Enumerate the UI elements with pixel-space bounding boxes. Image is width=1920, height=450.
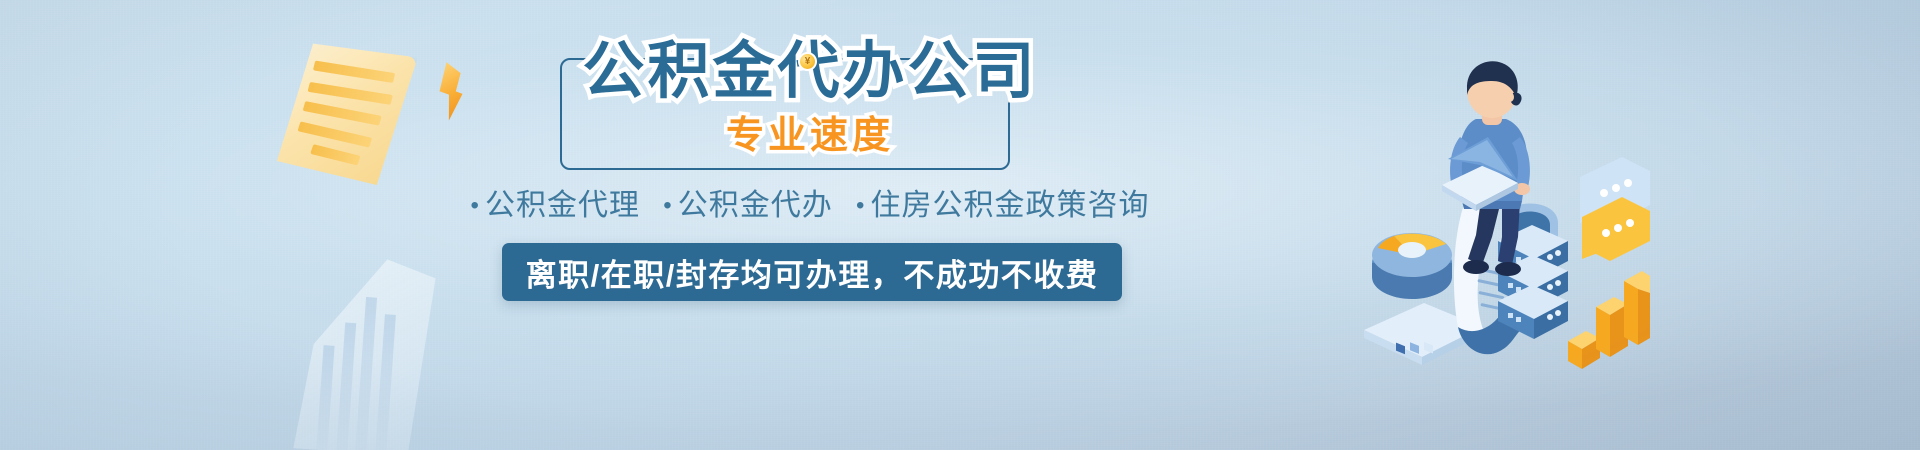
list-item-label: 公积金代办	[678, 189, 833, 222]
cta-button[interactable]: 离职/在职/封存均可办理，不成功不收费	[502, 243, 1122, 301]
bar-chart-icon	[1568, 271, 1650, 369]
cta-button-label: 离职/在职/封存均可办理，不成功不收费	[526, 250, 1099, 295]
list-item: •公积金代理	[471, 180, 640, 224]
title-container: 公积金代办公司 ¥	[430, 36, 1190, 107]
promo-banner: 公积金代办公司 ¥ 专业速度 •公积金代理 •公积金代办 •住房公积金政策咨询 …	[0, 0, 1920, 450]
flying-yellow-document-icon	[274, 40, 417, 189]
list-item-label: 公积金代理	[485, 189, 640, 222]
list-item-label: 住房公积金政策咨询	[870, 189, 1149, 222]
page-title: 公积金代办公司	[568, 36, 1051, 107]
subtitle-container: 专业速度	[430, 104, 1190, 159]
list-item: •住房公积金政策咨询	[856, 180, 1149, 224]
bullet-dot-icon: •	[856, 192, 865, 219]
feature-list: •公积金代理 •公积金代办 •住房公积金政策咨询	[430, 180, 1190, 224]
gold-coin-icon: ¥	[798, 52, 817, 71]
list-item: •公积金代办	[663, 180, 832, 224]
banner-content: 公积金代办公司 ¥ 专业速度 •公积金代理 •公积金代办 •住房公积金政策咨询 …	[430, 0, 1190, 450]
faded-white-chart-paper-icon	[293, 254, 436, 450]
bullet-dot-icon: •	[663, 192, 672, 219]
page-subtitle: 专业速度	[710, 104, 910, 159]
pie-chart-icon	[1372, 233, 1452, 299]
bullet-dot-icon: •	[471, 192, 480, 219]
isometric-illustration	[1350, 45, 1650, 375]
